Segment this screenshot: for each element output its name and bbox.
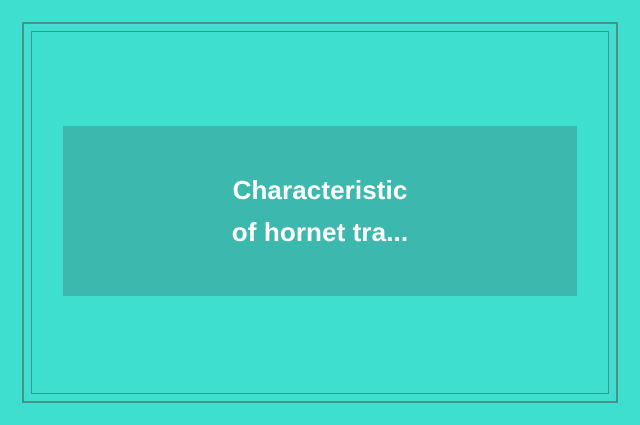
caption-band: Characteristic of hornet tra... bbox=[63, 126, 577, 296]
caption-line-1: Characteristic bbox=[233, 169, 408, 211]
placeholder-card: Characteristic of hornet tra... bbox=[0, 0, 640, 425]
caption-line-2: of hornet tra... bbox=[232, 211, 408, 253]
